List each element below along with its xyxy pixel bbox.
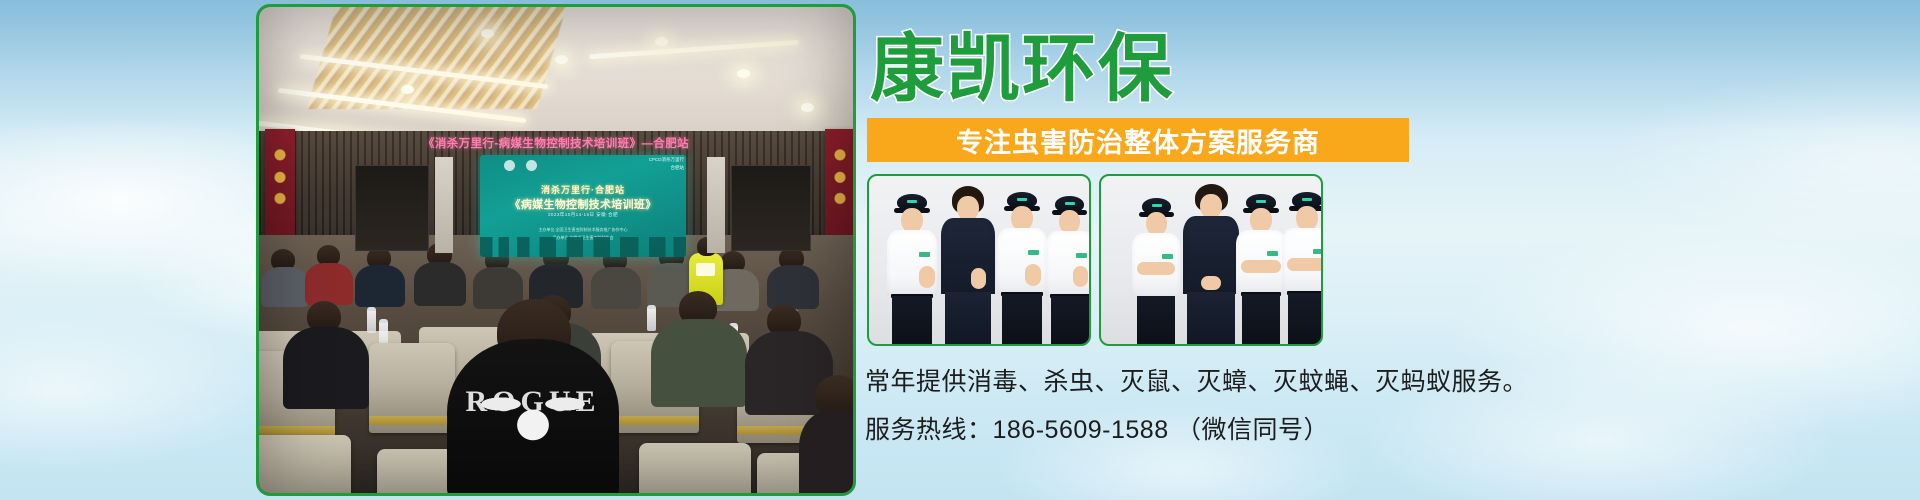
chandelier-icon [307, 7, 569, 109]
slogan-text: 专注虫害防治整体方案服务商 [956, 121, 1320, 160]
stage-pillar [707, 157, 725, 253]
downlight [481, 29, 494, 38]
conference-photo[interactable]: 《消杀万里行-病媒生物控制技术培训班》—合肥站 CPCD消杀万里行 合肥站 消杀… [256, 4, 856, 496]
team-photo-row [867, 174, 1447, 346]
conference-headline: 《消杀万里行-病媒生物控制技术培训班》—合肥站 [259, 135, 853, 151]
team-photo-2[interactable] [1099, 174, 1323, 346]
screen-skyline-graphic [480, 237, 686, 257]
banner-root: 《消杀万里行-病媒生物控制技术培训班》—合肥站 CPCD消杀万里行 合肥站 消杀… [0, 0, 1920, 500]
side-panel [355, 165, 429, 251]
screen-date: 2023年10月14-15日 安徽·合肥 [480, 212, 686, 218]
hotline-line: 服务热线：186-5609-1588 （微信同号） [865, 410, 1329, 446]
brand-title: 康凯环保 [870, 32, 1174, 106]
team-member [885, 194, 941, 344]
team-member [1281, 192, 1323, 344]
screen-title-small: 消杀万里行·合肥站 [480, 183, 686, 196]
stage-pillar [435, 157, 453, 253]
content-column: 康凯环保 专注虫害防治整体方案服务商 [862, 0, 1920, 500]
services-line: 常年提供消毒、杀虫、灭鼠、灭蟑、灭蚊蝇、灭蚂蚁服务。 [865, 362, 1528, 398]
audience-chair [369, 343, 455, 433]
audience-chair [259, 435, 351, 493]
conference-scene: 《消杀万里行-病媒生物控制技术培训班》—合肥站 CPCD消杀万里行 合肥站 消杀… [259, 7, 853, 493]
slogan-bar: 专注虫害防治整体方案服务商 [867, 118, 1409, 162]
downlight [401, 85, 414, 94]
team-member [995, 192, 1051, 344]
audience-area: ROGUE [259, 235, 853, 493]
foreground-attendee: ROGUE [447, 339, 619, 493]
screen-corner-text: CPCD消杀万里行 [649, 157, 684, 163]
team-member [1131, 198, 1183, 344]
team-photo-1[interactable] [867, 174, 1091, 346]
downlight [655, 37, 668, 46]
screen-organizer-1: 主办单位:全国卫生害虫防制技术服务推广协作中心 [480, 227, 686, 233]
screen-corner-sub: 合肥站 [671, 165, 685, 171]
team-member [1045, 196, 1091, 344]
downlight [555, 55, 568, 64]
downlight [801, 103, 814, 112]
downlight [737, 69, 750, 78]
screen-title-main: 《病媒生物控制技术培训班》 [480, 196, 686, 212]
led-stage-screen: CPCD消杀万里行 合肥站 消杀万里行·合肥站 《病媒生物控制技术培训班》 20… [480, 155, 686, 257]
bull-logo-icon [479, 391, 587, 449]
team-member [1181, 184, 1241, 344]
team-member [939, 186, 997, 344]
side-panel [731, 165, 811, 251]
audience-chair [639, 443, 751, 493]
